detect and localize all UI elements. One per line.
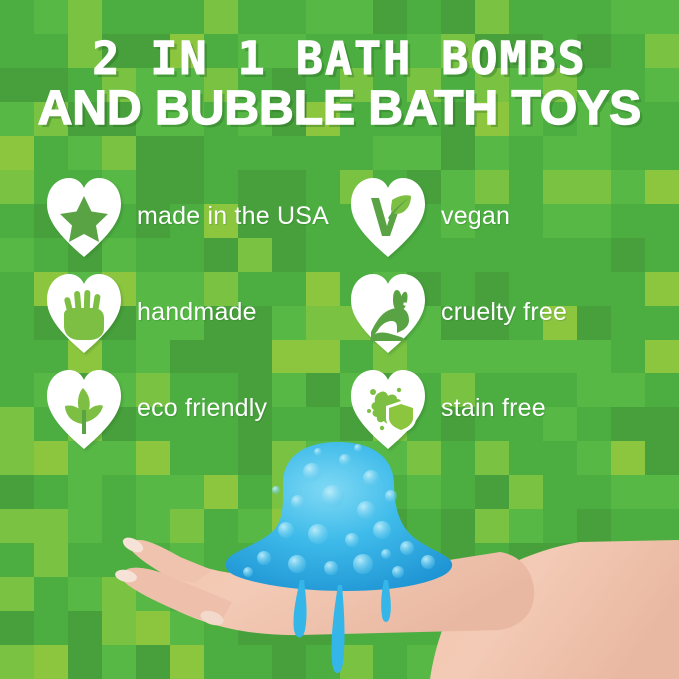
pixel-cell	[577, 136, 611, 170]
pixel-cell	[0, 306, 34, 340]
pixel-cell	[0, 170, 34, 204]
heart-splat-shield-icon	[349, 366, 427, 450]
pixel-cell	[407, 0, 441, 34]
feature-handmade: handmade	[45, 264, 341, 360]
heart-hand-icon	[45, 270, 123, 354]
pixel-cell	[373, 0, 407, 34]
pixel-cell	[543, 0, 577, 34]
pixel-cell	[136, 0, 170, 34]
pixel-cell	[0, 204, 34, 238]
pixel-cell	[170, 0, 204, 34]
pixel-cell	[102, 0, 136, 34]
pixel-cell	[645, 340, 679, 374]
pixel-cell	[373, 136, 407, 170]
heart-rabbit-icon	[349, 270, 427, 354]
pixel-cell	[611, 136, 645, 170]
pixel-cell	[645, 170, 679, 204]
feature-label: cruelty free	[441, 298, 567, 327]
feature-label: eco friendly	[137, 394, 267, 423]
pixel-cell	[204, 136, 238, 170]
pixel-cell	[340, 0, 374, 34]
feature-list: made in the USA vegan	[45, 168, 645, 456]
pixel-cell	[306, 136, 340, 170]
pixel-cell	[441, 0, 475, 34]
heart-vegan-leaf-icon	[349, 174, 427, 258]
pixel-cell	[34, 136, 68, 170]
pixel-cell	[645, 204, 679, 238]
headline-line-2: AND BUBBLE BATH TOYS	[0, 85, 679, 134]
feature-cruelty-free: cruelty free	[349, 264, 645, 360]
pixel-cell	[272, 136, 306, 170]
pixel-cell	[102, 136, 136, 170]
pixel-cell	[543, 136, 577, 170]
pixel-cell	[170, 136, 204, 170]
headline-block: 2 IN 1 BATH BOMBS AND BUBBLE BATH TOYS	[0, 36, 679, 134]
pixel-cell	[645, 136, 679, 170]
feature-label: handmade	[137, 298, 257, 327]
pixel-cell	[34, 0, 68, 34]
pixel-cell	[204, 0, 238, 34]
feature-eco-friendly: eco friendly	[45, 360, 341, 456]
pixel-cell	[645, 238, 679, 272]
pixel-cell	[577, 0, 611, 34]
pixel-cell	[238, 136, 272, 170]
pixel-cell	[475, 136, 509, 170]
pixel-cell	[0, 272, 34, 306]
pixel-cell	[407, 136, 441, 170]
pixel-cell	[0, 238, 34, 272]
pixel-cell	[645, 0, 679, 34]
pixel-cell	[340, 136, 374, 170]
pixel-cell	[645, 306, 679, 340]
pixel-cell	[611, 0, 645, 34]
pixel-cell	[238, 0, 272, 34]
pixel-cell	[0, 373, 34, 407]
feature-label: made in the USA	[137, 202, 329, 231]
pixel-cell	[645, 272, 679, 306]
pixel-cell	[272, 0, 306, 34]
pixel-cell	[645, 373, 679, 407]
pixel-cell	[0, 340, 34, 374]
pixel-cell	[0, 0, 34, 34]
pixel-cell	[68, 0, 102, 34]
pixel-cell	[441, 136, 475, 170]
pixel-cell	[475, 0, 509, 34]
pixel-cell	[136, 136, 170, 170]
pixel-cell	[509, 136, 543, 170]
promo-image: 2 IN 1 BATH BOMBS AND BUBBLE BATH TOYS m…	[0, 0, 679, 679]
pixel-cell	[0, 136, 34, 170]
feature-label: vegan	[441, 202, 510, 231]
feature-label: stain free	[441, 394, 546, 423]
feature-made-in-the-usa: made in the USA	[45, 168, 341, 264]
pixel-cell	[509, 0, 543, 34]
heart-star-icon	[45, 174, 123, 258]
pixel-cell	[68, 136, 102, 170]
pixel-cell	[306, 0, 340, 34]
heart-leaves-icon	[45, 366, 123, 450]
headline-line-1: 2 IN 1 BATH BOMBS	[0, 36, 679, 81]
product-photo-hand-with-bath-bomb	[0, 430, 679, 679]
feature-vegan: vegan	[349, 168, 645, 264]
feature-stain-free: stain free	[349, 360, 645, 456]
